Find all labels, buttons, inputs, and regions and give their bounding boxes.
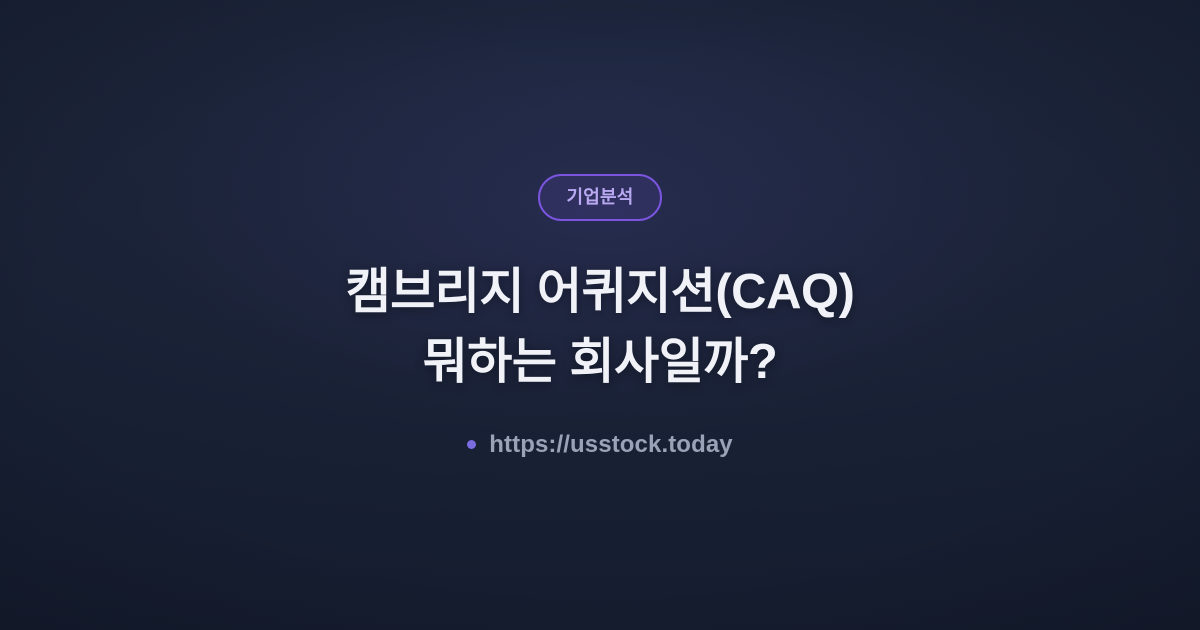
page-title: 캠브리지 어퀴지션(CAQ) 뭐하는 회사일까?: [346, 257, 855, 397]
page-title-line-2: 뭐하는 회사일까?: [346, 327, 855, 397]
og-share-card: 기업분석 캠브리지 어퀴지션(CAQ) 뭐하는 회사일까? https://us…: [0, 0, 1200, 630]
page-title-line-1: 캠브리지 어퀴지션(CAQ): [346, 257, 855, 327]
card-content: 기업분석 캠브리지 어퀴지션(CAQ) 뭐하는 회사일까? https://us…: [0, 174, 1200, 457]
site-url-row: https://usstock.today: [467, 433, 732, 457]
site-url-label: https://usstock.today: [489, 433, 732, 457]
bullet-dot-icon: [467, 440, 476, 449]
category-badge: 기업분석: [538, 174, 661, 221]
